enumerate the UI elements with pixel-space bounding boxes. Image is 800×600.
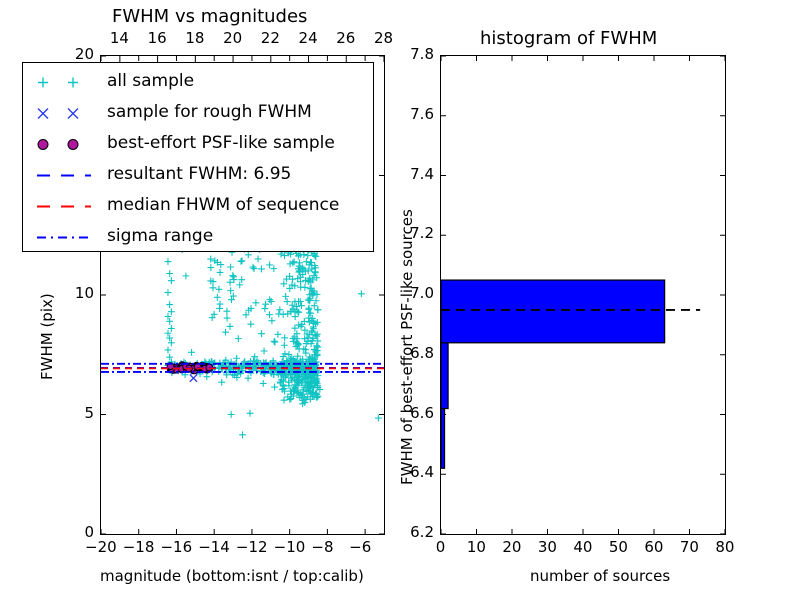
tick-label: 26 xyxy=(336,29,355,47)
legend-item-label: best-effort PSF-like sample xyxy=(107,133,335,153)
histogram-bar xyxy=(441,409,445,469)
figure-canvas: FWHM vs magnitudes 1416182022242628 −20−… xyxy=(0,0,800,600)
legend[interactable]: all samplesample for rough FWHMbest-effo… xyxy=(22,62,374,252)
legend-item[interactable]: sample for rough FWHM xyxy=(29,98,367,129)
tick-label: −14 xyxy=(198,538,230,556)
legend-marker-circle-icon xyxy=(29,129,105,160)
tick-label: 7.4 xyxy=(396,165,434,183)
tick-label: 80 xyxy=(715,538,734,556)
tick-label: −12 xyxy=(236,538,268,556)
tick-label: −6 xyxy=(349,538,371,556)
histogram-bar xyxy=(441,280,665,343)
tick-label: 24 xyxy=(299,29,318,47)
legend-item-label: all sample xyxy=(107,71,194,91)
tick-label: 16 xyxy=(148,29,167,47)
legend-item-label: sigma range xyxy=(107,226,213,246)
tick-label: 50 xyxy=(609,538,628,556)
legend-item[interactable]: median FHWM of sequence xyxy=(29,191,367,222)
tick-label: 20 xyxy=(223,29,242,47)
histogram-axes[interactable] xyxy=(440,55,726,535)
histogram-bar xyxy=(441,343,448,409)
tick-label: 10 xyxy=(467,538,486,556)
tick-label: −18 xyxy=(123,538,155,556)
tick-label: 7.6 xyxy=(396,105,434,123)
tick-label: 0 xyxy=(436,538,446,556)
tick-label: 10 xyxy=(58,284,94,302)
legend-marker-plus-icon xyxy=(29,67,105,98)
histogram-canvas xyxy=(441,56,725,534)
left-panel-ylabel: FWHM (pix) xyxy=(38,293,56,380)
right-panel-ylabel: FWHM of best-effort PSF-like sources xyxy=(398,209,416,485)
tick-label: 22 xyxy=(261,29,280,47)
tick-label: −8 xyxy=(311,538,333,556)
histogram-bars xyxy=(441,280,665,468)
tick-label: 5 xyxy=(58,404,94,422)
left-panel-title: FWHM vs magnitudes xyxy=(112,6,307,27)
legend-item[interactable]: resultant FWHM: 6.95 xyxy=(29,160,367,191)
left-panel-xlabel: magnitude (bottom:isnt / top:calib) xyxy=(100,567,364,585)
tick-label: 28 xyxy=(374,29,393,47)
right-panel-xlabel: number of sources xyxy=(530,567,670,585)
legend-marker-dashdot-icon xyxy=(29,222,105,253)
legend-item[interactable]: best-effort PSF-like sample xyxy=(29,129,367,160)
tick-label: 70 xyxy=(680,538,699,556)
tick-label: 0 xyxy=(58,523,94,541)
tick-label: 6.2 xyxy=(396,523,434,541)
tick-label: 20 xyxy=(502,538,521,556)
legend-marker-cross-icon xyxy=(29,98,105,129)
tick-label: 18 xyxy=(185,29,204,47)
tick-label: 30 xyxy=(538,538,557,556)
legend-item[interactable]: sigma range xyxy=(29,222,367,253)
right-panel-title: histogram of FWHM xyxy=(480,28,657,49)
tick-label: 20 xyxy=(58,45,94,63)
tick-label: −16 xyxy=(160,538,192,556)
tick-label: 40 xyxy=(573,538,592,556)
legend-item-label: median FHWM of sequence xyxy=(107,195,339,215)
legend-marker-dashed-icon xyxy=(29,160,105,191)
legend-item[interactable]: all sample xyxy=(29,67,367,98)
tick-label: 7.8 xyxy=(396,45,434,63)
tick-label: 14 xyxy=(110,29,129,47)
tick-label: 60 xyxy=(644,538,663,556)
tick-label: −10 xyxy=(274,538,306,556)
legend-marker-dashed-icon xyxy=(29,191,105,222)
legend-item-label: sample for rough FWHM xyxy=(107,102,312,122)
legend-item-label: resultant FWHM: 6.95 xyxy=(107,164,291,184)
